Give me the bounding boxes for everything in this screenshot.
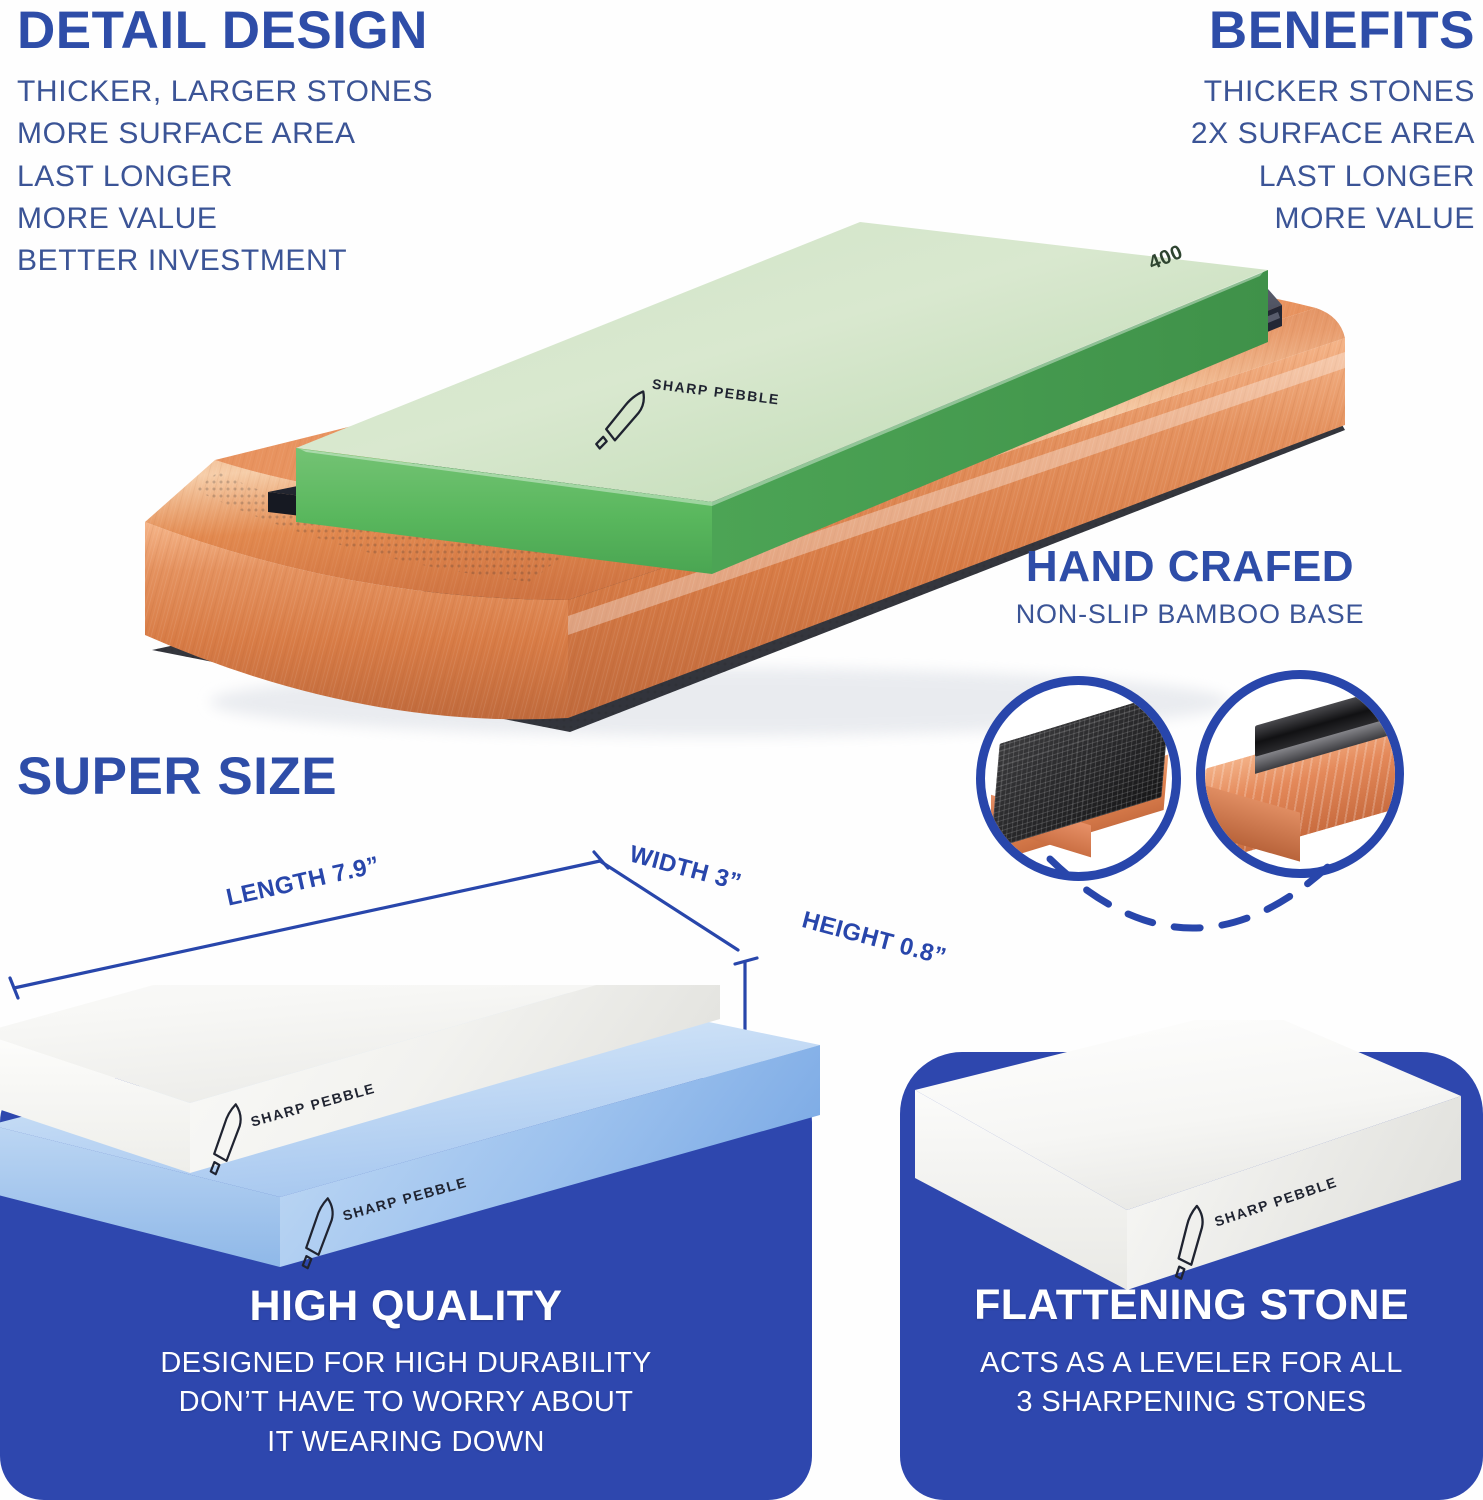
hand-crafted-heading: HAND CRAFED: [955, 545, 1425, 589]
super-size-block: SUPER SIZE: [17, 750, 337, 803]
high-quality-line-0: DESIGNED FOR HIGH DURABILITY: [0, 1344, 812, 1383]
stacked-stones-image: SHARP PEBBLE SHARP PEBBLE: [0, 985, 820, 1285]
high-quality-line-1: DON’T HAVE TO WORRY ABOUT: [0, 1383, 812, 1422]
benefits-heading: BENEFITS: [1191, 4, 1475, 57]
flattening-stone-line-0: ACTS AS A LEVELER FOR ALL: [900, 1344, 1483, 1383]
flattening-stone-image: SHARP PEBBLE: [905, 1020, 1465, 1290]
detail-design-bullet-0: THICKER, LARGER STONES: [17, 71, 433, 113]
hand-crafted-subheading: NON-SLIP BAMBOO BASE: [955, 599, 1425, 630]
hand-crafted-block: HAND CRAFED NON-SLIP BAMBOO BASE: [955, 545, 1425, 630]
non-slip-mat-icon: [979, 679, 1178, 878]
bamboo-corner-closeup: [1196, 670, 1404, 878]
high-quality-body: DESIGNED FOR HIGH DURABILITY DON’T HAVE …: [0, 1344, 812, 1462]
detail-design-heading: DETAIL DESIGN: [17, 4, 433, 57]
bamboo-corner-icon: [1197, 671, 1403, 877]
flattening-stone-title: FLATTENING STONE: [900, 1284, 1483, 1327]
high-quality-title: HIGH QUALITY: [0, 1285, 812, 1328]
high-quality-line-2: IT WEARING DOWN: [0, 1423, 812, 1462]
super-size-heading: SUPER SIZE: [17, 750, 337, 803]
non-slip-mat-closeup: [976, 676, 1181, 881]
infographic-canvas: DETAIL DESIGN THICKER, LARGER STONES MOR…: [0, 0, 1483, 1500]
hero-product-image: 400 SHARP PEBBLE: [100, 130, 1360, 750]
benefits-bullet-0: THICKER STONES: [1191, 71, 1475, 113]
flattening-stone-body: ACTS AS A LEVELER FOR ALL 3 SHARPENING S…: [900, 1344, 1483, 1423]
flattening-stone-line-1: 3 SHARPENING STONES: [900, 1383, 1483, 1422]
dashed-connector-arc: [1040, 855, 1340, 965]
